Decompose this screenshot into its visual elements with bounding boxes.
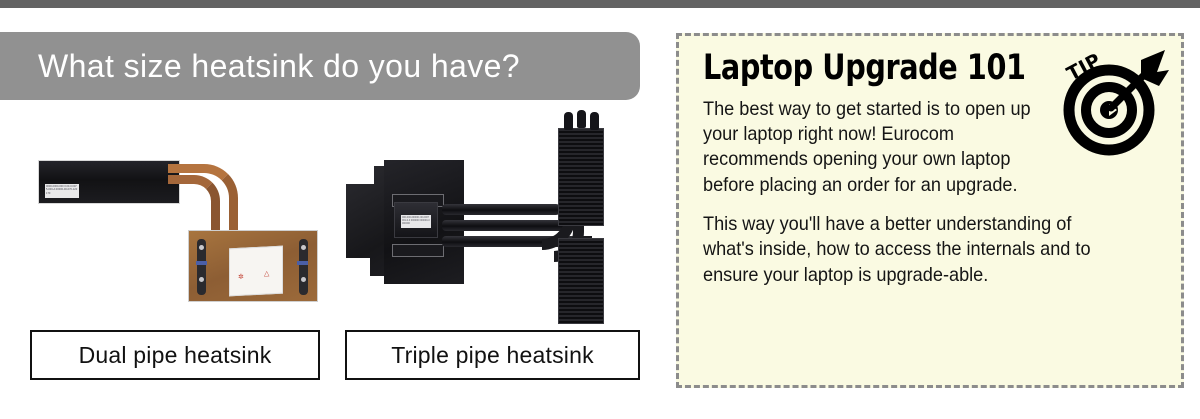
dual-heatsink-label: 0000-0000-000 0.00-0.0075-000-A 00000-00… — [45, 184, 79, 198]
dual-blue-pad-right — [297, 261, 308, 265]
tip-panel-title: Laptop Upgrade 101 — [703, 50, 1077, 87]
caption-triple-pipe-heatsink: Triple pipe heatsink — [345, 330, 640, 380]
triple-retention-clip-bottom — [392, 244, 444, 257]
page-title-bar: What size heatsink do you have? — [0, 32, 640, 100]
dual-sticker-mark-1: ✲ — [238, 273, 244, 281]
caption-triple-label: Triple pipe heatsink — [391, 342, 594, 369]
dual-blue-pad-left — [196, 261, 207, 265]
triple-pipe-heatsink-photo: 000-000-000001 00-0007001-0-0 000000 000… — [346, 108, 646, 324]
tip-panel-content: Laptop Upgrade 101 The best way to get s… — [679, 36, 1181, 385]
triple-heatsink-label: 000-000-000001 00-0007001-0-0 000000 000… — [401, 215, 431, 228]
triple-pipe-end-1 — [564, 112, 573, 130]
laptop-upgrade-tip-panel: Laptop Upgrade 101 The best way to get s… — [676, 33, 1184, 388]
triple-contact-block: 000-000-000001 00-0007001-0-0 000000 000… — [394, 202, 438, 238]
triple-pipe-end-2 — [577, 110, 586, 128]
dual-screw-3 — [301, 245, 306, 250]
dual-copper-base-plate: ✲ △ — [188, 230, 318, 302]
dual-screw-1 — [199, 245, 204, 250]
tip-paragraph-2: This way you'll have a better understand… — [703, 212, 1127, 288]
left-content-column: What size heatsink do you have? 0000-000… — [0, 8, 660, 419]
dual-screw-4 — [301, 277, 306, 282]
triple-fin-stack-bottom — [558, 238, 604, 324]
caption-dual-pipe-heatsink: Dual pipe heatsink — [30, 330, 320, 380]
triple-fin-stack-top — [558, 128, 604, 226]
caption-dual-label: Dual pipe heatsink — [79, 342, 272, 369]
dual-white-sticker: ✲ △ — [229, 246, 283, 297]
triple-plate-notch-bottom — [346, 258, 370, 276]
tip-paragraph-1: The best way to get started is to open u… — [703, 97, 1034, 198]
tip-bullseye-icon: TIP — [1053, 42, 1173, 158]
page-title: What size heatsink do you have? — [38, 48, 520, 85]
dual-screw-2 — [199, 277, 204, 282]
triple-plate-notch-top — [346, 166, 374, 184]
dual-fin-block: 0000-0000-000 0.00-0.0075-000-A 00000-00… — [38, 160, 180, 204]
dual-sticker-mark-2: △ — [264, 269, 269, 277]
top-divider-rule — [0, 0, 1200, 8]
heatsink-photo-stage: 0000-0000-000 0.00-0.0075-000-A 00000-00… — [0, 100, 660, 330]
triple-pipe-end-3 — [590, 112, 599, 130]
caption-row: Dual pipe heatsink Triple pipe heatsink — [0, 330, 660, 400]
dual-pipe-heatsink-photo: 0000-0000-000 0.00-0.0075-000-A 00000-00… — [38, 152, 318, 302]
